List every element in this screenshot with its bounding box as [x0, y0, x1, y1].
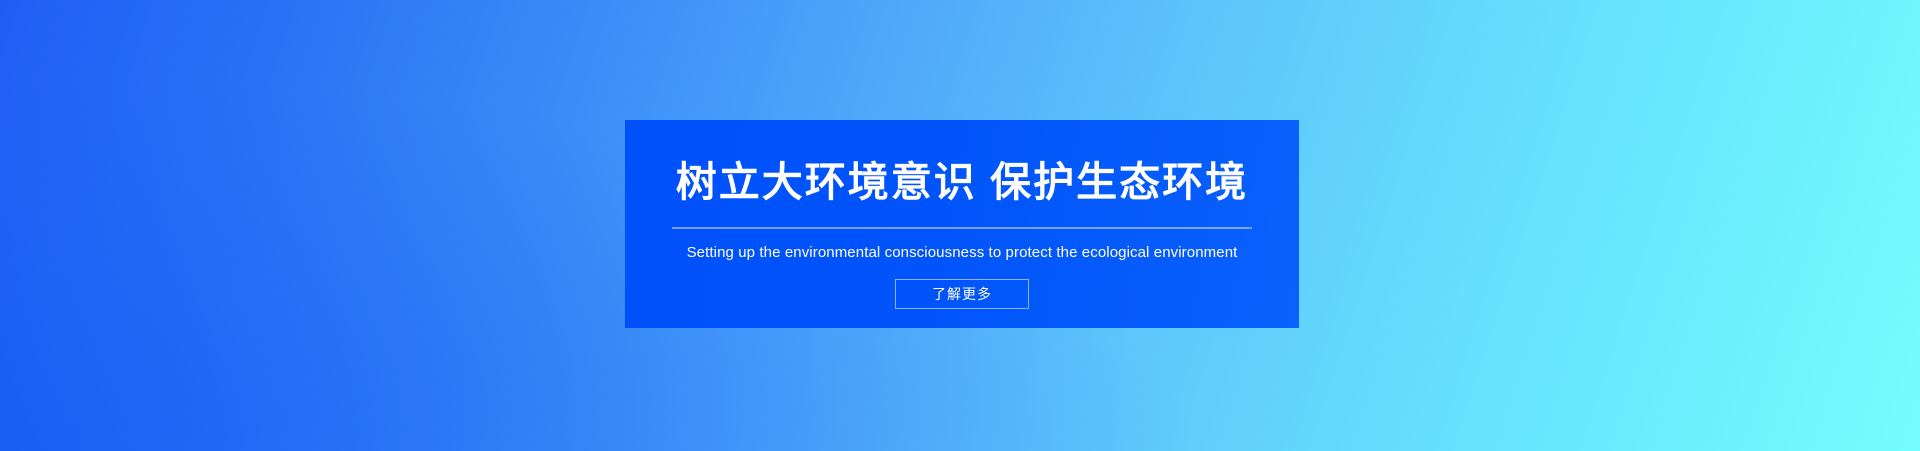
- hero-banner: 树立大环境意识 保护生态环境 Setting up the environmen…: [0, 0, 1920, 451]
- page-title: 树立大环境意识 保护生态环境: [676, 162, 1248, 203]
- hero-content-panel: 树立大环境意识 保护生态环境 Setting up the environmen…: [625, 120, 1299, 328]
- title-divider: [672, 227, 1252, 229]
- learn-more-button[interactable]: 了解更多: [895, 279, 1029, 309]
- page-subtitle: Setting up the environmental consciousne…: [687, 245, 1238, 260]
